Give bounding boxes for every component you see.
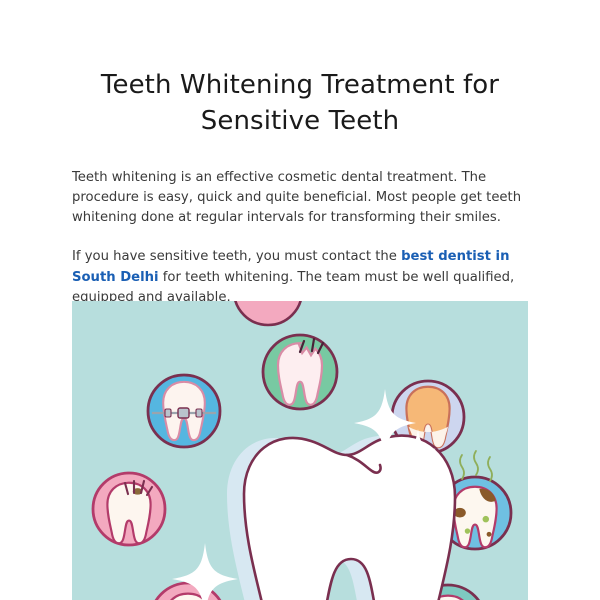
article-page: Teeth Whitening Treatment for Sensitive … [0, 0, 600, 600]
paragraph-sensitive-teeth: If you have sensitive teeth, you must co… [72, 247, 528, 308]
page-title-line-2: Sensitive Teeth [201, 106, 399, 136]
article-body: Teeth whitening is an effective cosmetic… [72, 140, 528, 308]
dental-illustration [72, 301, 528, 600]
dental-illustration-svg [72, 301, 528, 600]
article-container: Teeth Whitening Treatment for Sensitive … [72, 0, 528, 308]
chipped-tooth-icon [263, 335, 337, 409]
braces-tooth-icon [148, 375, 220, 447]
page-title: Teeth Whitening Treatment for Sensitive … [72, 0, 528, 140]
page-title-line-1: Teeth Whitening Treatment for [101, 70, 499, 100]
paragraph-intro: Teeth whitening is an effective cosmetic… [72, 168, 528, 229]
cavity-tooth-icon [93, 473, 165, 545]
paragraph-text-before-link: If you have sensitive teeth, you must co… [72, 249, 401, 264]
